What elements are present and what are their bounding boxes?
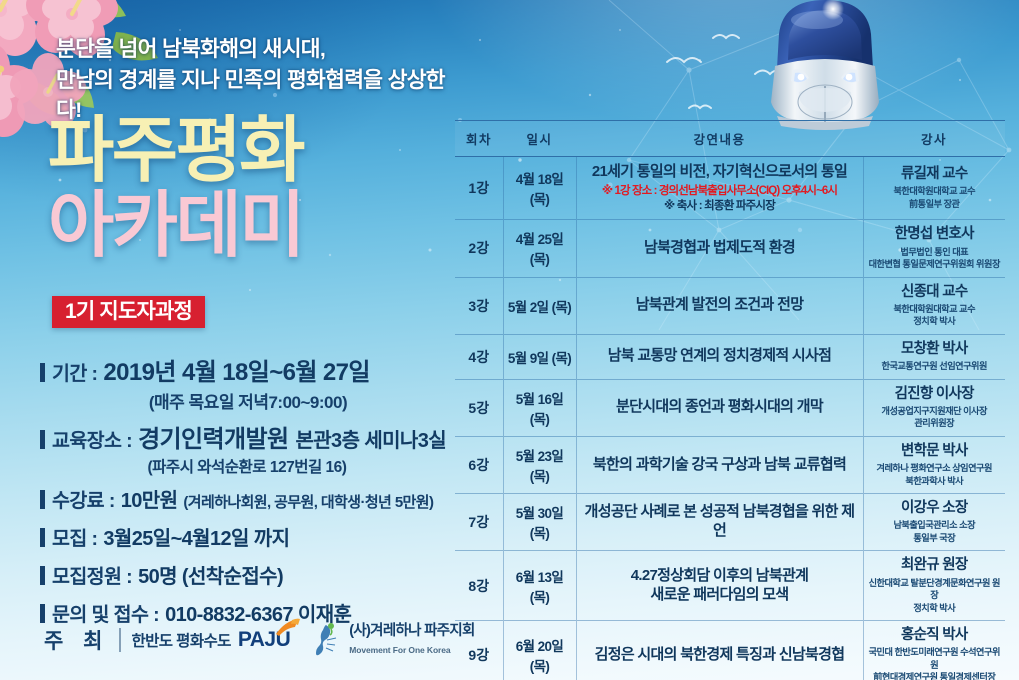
cell-session-no: 8강 [455,551,503,621]
cell-session-no: 9강 [455,620,503,680]
cell-lecturer: 한명섭 변호사법무법인 통인 대표대한변협 통일문제연구위원회 위원장 [863,220,1005,277]
lecturer-name: 김진향 이사장 [868,386,1002,403]
cell-topic: 남북관계 발전의 조건과 전망 [576,277,863,334]
course-badge: 1기 지도자과정 [52,296,205,328]
cell-date: 5월 9일 (목) [503,334,576,379]
schedule-table-wrapper: 회차 일시 강연내용 강사 1강4월 18일 (목)21세기 통일의 비전, 자… [455,120,1005,680]
period-value: 2019년 4월 18일~6월 27일 [103,352,370,387]
lecturer-affiliation: 신한대학교 탈분단경계문화연구원 원장정치학 박사 [868,577,1002,614]
cell-topic: 분단시대의 종언과 평화시대의 개막 [576,379,863,436]
paju-logo-group: 한반도 평화수도 PAJU [131,628,290,652]
col-header-date: 일시 [503,121,576,157]
paju-wordmark: PAJU [238,628,290,652]
bullet-bar-icon [40,528,45,547]
tagline-line1: 분단을 넘어 남북화해의 새시대, [56,34,448,65]
schedule-table-head: 회차 일시 강연내용 강사 [455,121,1005,157]
detail-capacity: 모집정원 : 50명 (선착순접수) [40,560,448,589]
cell-topic: 4.27정상회담 이후의 남북관계새로운 패러다임의 모색 [576,551,863,621]
table-row: 6강5월 23일 (목)북한의 과학기술 강국 구상과 남북 교류협력변학문 박… [455,436,1005,493]
cell-topic: 김정은 시대의 북한경제 특징과 신남북경협 [576,620,863,680]
cell-session-no: 6강 [455,436,503,493]
topic-title: 분단시대의 종언과 평화시대의 개막 [583,398,857,417]
lecturer-affiliation: 북한대학원대학교 교수前통일부 장관 [868,185,1002,210]
place-note: (파주시 와석순환로 127번길 16) [46,455,448,477]
lecturer-affiliation: 남북출입국관리소 소장통일부 국장 [868,519,1002,544]
schedule-table: 회차 일시 강연내용 강사 1강4월 18일 (목)21세기 통일의 비전, 자… [455,120,1005,680]
lecturer-name: 홍순직 박사 [868,627,1002,644]
cell-lecturer: 이강우 소장남북출입국관리소 소장통일부 국장 [863,494,1005,551]
cell-topic: 남북경협과 법제도적 환경 [576,220,863,277]
detail-place: 교육장소 : 경기인력개발원 본관3층 세미나3실 (파주시 와석순환로 127… [40,419,448,477]
cell-lecturer: 모창환 박사한국교통연구원 선임연구위원 [863,334,1005,379]
lecturer-name: 한명섭 변호사 [868,226,1002,243]
bullet-bar-icon [40,566,45,585]
cell-session-no: 2강 [455,220,503,277]
lecturer-name: 변학문 박사 [868,443,1002,460]
table-row: 4강5월 9일 (목)남북 교통망 연계의 정치경제적 시사점모창환 박사한국교… [455,334,1005,379]
cell-lecturer: 변학문 박사겨레하나 평화연구소 상임연구원북한과학사 박사 [863,436,1005,493]
cell-date: 4월 18일 (목) [503,157,576,220]
fee-note: (겨레하나회원, 공무원, 대학생·청년 5만원) [183,491,433,512]
lecturer-name: 신종대 교수 [868,284,1002,301]
schedule-table-body: 1강4월 18일 (목)21세기 통일의 비전, 자기혁신으로서의 통일※ 1강… [455,157,1005,680]
lecturer-name: 최완규 원장 [868,557,1002,574]
footer-divider [119,628,121,652]
cell-topic: 개성공단 사례로 본 성공적 남북경협을 위한 제언 [576,494,863,551]
topic-title: 개성공단 사례로 본 성공적 남북경협을 위한 제언 [583,503,857,541]
topic-title: 남북경협과 법제도적 환경 [583,239,857,258]
cell-session-no: 3강 [455,277,503,334]
lecturer-name: 모창환 박사 [868,341,1002,358]
host-label: 주 최 [44,625,109,655]
cell-date: 6월 13일 (목) [503,551,576,621]
gyeorehana-logo-group: (사)겨레하나 파주지회 Movement For One Korea [314,622,474,658]
cell-lecturer: 홍순직 박사국민대 한반도미래연구원 수석연구위원前현대경제연구원 통일경제센터… [863,620,1005,680]
topic-congrat-note: ※ 축사 : 최종환 파주시장 [583,200,857,214]
poster-root: 분단을 넘어 남북화해의 새시대, 만남의 경계를 지나 민족의 평화협력을 상… [0,0,1019,680]
lecturer-affiliation: 국민대 한반도미래연구원 수석연구위원前현대경제연구원 통일경제센터장 [868,646,1002,680]
topic-title: 김정은 시대의 북한경제 특징과 신남북경협 [583,646,857,665]
place-value-sub: 본관3층 세미나3실 [295,424,446,453]
recruit-value: 3월25일~4월12일 까지 [103,522,289,551]
gyeorehana-tagline: Movement For One Korea [349,645,450,655]
cell-date: 4월 25일 (목) [503,220,576,277]
paju-prefix: 한반도 평화수도 [131,629,230,651]
cell-lecturer: 류길재 교수북한대학원대학교 교수前통일부 장관 [863,157,1005,220]
topic-title: 북한의 과학기술 강국 구상과 남북 교류협력 [583,456,857,475]
bullet-bar-icon [40,490,45,509]
period-note: (매주 목요일 저녁7:00~9:00) [48,388,448,413]
table-row: 7강5월 30일 (목)개성공단 사례로 본 성공적 남북경협을 위한 제언이강… [455,494,1005,551]
lecturer-affiliation: 법무법인 통인 대표대한변협 통일문제연구위원회 위원장 [868,246,1002,271]
lecturer-affiliation: 한국교통연구원 선임연구위원 [868,360,1002,372]
cell-session-no: 1강 [455,157,503,220]
cell-lecturer: 김진향 이사장개성공업지구지원재단 이사장관리위원장 [863,379,1005,436]
lecturer-name: 이강우 소장 [868,500,1002,517]
cell-lecturer: 신종대 교수북한대학원대학교 교수정치학 박사 [863,277,1005,334]
fee-value: 10만원 [121,484,178,513]
cell-session-no: 7강 [455,494,503,551]
detail-period: 기간 : 2019년 4월 18일~6월 27일 (매주 목요일 저녁7:00~… [40,352,448,413]
place-label: 교육장소 : [52,424,132,453]
cell-topic: 21세기 통일의 비전, 자기혁신으로서의 통일※ 1강 장소 : 경의선남북출… [576,157,863,220]
cell-topic: 북한의 과학기술 강국 구상과 남북 교류협력 [576,436,863,493]
cell-date: 5월 30일 (목) [503,494,576,551]
lecturer-name: 류길재 교수 [868,166,1002,183]
cell-lecturer: 최완규 원장신한대학교 탈분단경계문화연구원 원장정치학 박사 [863,551,1005,621]
col-header-lecturer: 강사 [863,121,1005,157]
place-value: 경기인력개발원 [138,419,288,454]
bullet-bar-icon [40,363,45,382]
col-header-no: 회차 [455,121,503,157]
cell-session-no: 4강 [455,334,503,379]
page-title: 파주평화 아카데미 [48,116,448,261]
cell-date: 6월 20일 (목) [503,620,576,680]
lecturer-affiliation: 북한대학원대학교 교수정치학 박사 [868,303,1002,328]
period-label: 기간 : [52,357,97,386]
paju-swoosh-icon [275,617,301,637]
table-row: 8강6월 13일 (목)4.27정상회담 이후의 남북관계새로운 패러다임의 모… [455,551,1005,621]
lecturer-affiliation: 겨레하나 평화연구소 상임연구원북한과학사 박사 [868,462,1002,487]
cell-topic: 남북 교통망 연계의 정치경제적 시사점 [576,334,863,379]
cell-date: 5월 16일 (목) [503,379,576,436]
cell-date: 5월 23일 (목) [503,436,576,493]
title-line2: 아카데미 [48,191,448,262]
table-row: 5강5월 16일 (목)분단시대의 종언과 평화시대의 개막김진향 이사장개성공… [455,379,1005,436]
capacity-label: 모집정원 : [52,560,132,589]
table-row: 3강5월 2일 (목)남북관계 발전의 조건과 전망신종대 교수북한대학원대학교… [455,277,1005,334]
recruit-label: 모집 : [52,522,97,551]
table-row: 1강4월 18일 (목)21세기 통일의 비전, 자기혁신으로서의 통일※ 1강… [455,157,1005,220]
bullet-bar-icon [40,604,45,623]
topic-title: 남북 교통망 연계의 정치경제적 시사점 [583,347,857,366]
detail-fee: 수강료 : 10만원 (겨레하나회원, 공무원, 대학생·청년 5만원) [40,484,448,513]
cell-session-no: 5강 [455,379,503,436]
table-header-row: 회차 일시 강연내용 강사 [455,121,1005,157]
korea-peninsula-icon [314,623,344,657]
topic-title: 4.27정상회담 이후의 남북관계새로운 패러다임의 모색 [583,567,857,605]
ktx-train-illustration [749,0,901,130]
topic-venue-notice: ※ 1강 장소 : 경의선남북출입사무소(CIQ) 오후4시~6시 [583,185,857,199]
lecturer-affiliation: 개성공업지구지원재단 이사장관리위원장 [868,405,1002,430]
topic-title: 21세기 통일의 비전, 자기혁신으로서의 통일 [583,163,857,182]
topic-title: 남북관계 발전의 조건과 전망 [583,296,857,315]
detail-recruit: 모집 : 3월25일~4월12일 까지 [40,522,448,551]
cell-date: 5월 2일 (목) [503,277,576,334]
fee-label: 수강료 : [52,484,115,513]
col-header-topic: 강연내용 [576,121,863,157]
capacity-value: 50명 (선착순접수) [138,560,283,589]
event-details: 기간 : 2019년 4월 18일~6월 27일 (매주 목요일 저녁7:00~… [40,352,448,630]
table-row: 9강6월 20일 (목)김정은 시대의 북한경제 특징과 신남북경협홍순직 박사… [455,620,1005,680]
table-row: 2강4월 25일 (목)남북경협과 법제도적 환경한명섭 변호사법무법인 통인 … [455,220,1005,277]
title-line1: 파주평화 [48,116,448,187]
bullet-bar-icon [40,430,45,449]
footer-organizers: 주 최 한반도 평화수도 PAJU (사)겨레하나 파주지회 [44,622,475,658]
